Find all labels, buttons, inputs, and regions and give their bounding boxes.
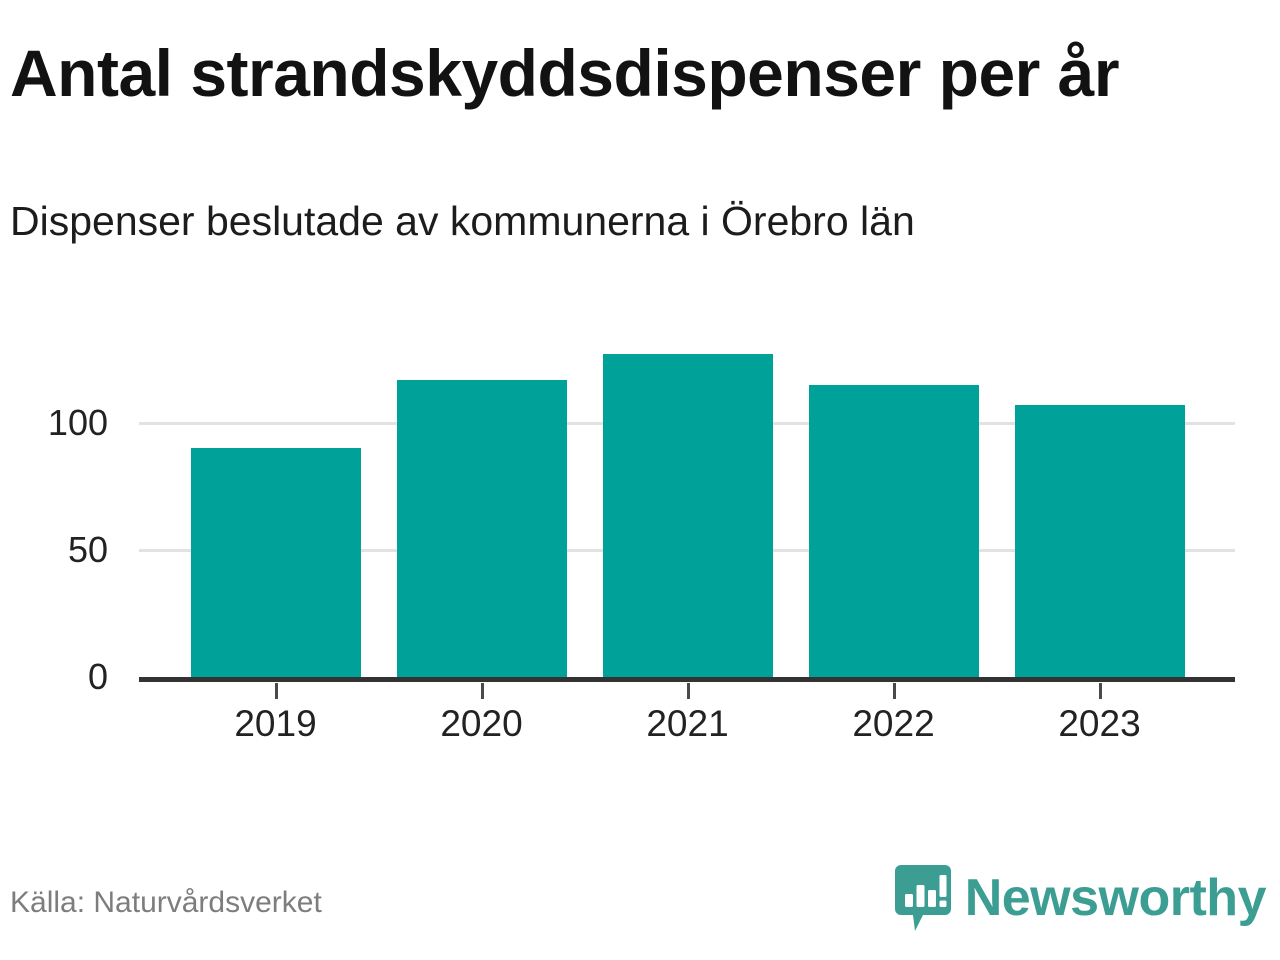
x-axis-tick-label: 2020	[379, 702, 585, 746]
x-axis-tick	[275, 683, 278, 699]
x-axis-tick-label: 2022	[791, 702, 997, 746]
x-axis-tick	[893, 683, 896, 699]
y-axis-tick-label: 0	[0, 659, 108, 695]
x-axis-tick-label: 2019	[173, 702, 379, 746]
source-note: Källa: Naturvårdsverket	[10, 884, 322, 922]
bar-chart-speech-bubble-icon	[895, 865, 951, 931]
x-axis-tick-label: 2023	[997, 702, 1203, 746]
newsworthy-logo[interactable]: Newsworthy	[895, 862, 1266, 934]
bar[interactable]	[397, 380, 567, 677]
x-axis-tick	[687, 683, 690, 699]
bar[interactable]	[809, 385, 979, 677]
x-axis-tick-label: 2021	[585, 702, 791, 746]
bar[interactable]	[191, 448, 361, 677]
newsworthy-wordmark: Newsworthy	[965, 870, 1266, 926]
x-axis-tick	[481, 683, 484, 699]
x-axis-line	[139, 677, 1235, 682]
y-axis-tick-label: 50	[0, 532, 108, 568]
bar[interactable]	[603, 354, 773, 677]
y-axis-tick-label: 100	[0, 405, 108, 441]
bar-chart: 05010020192020202120222023	[0, 0, 1280, 960]
x-axis-tick	[1099, 683, 1102, 699]
bar[interactable]	[1015, 405, 1185, 677]
